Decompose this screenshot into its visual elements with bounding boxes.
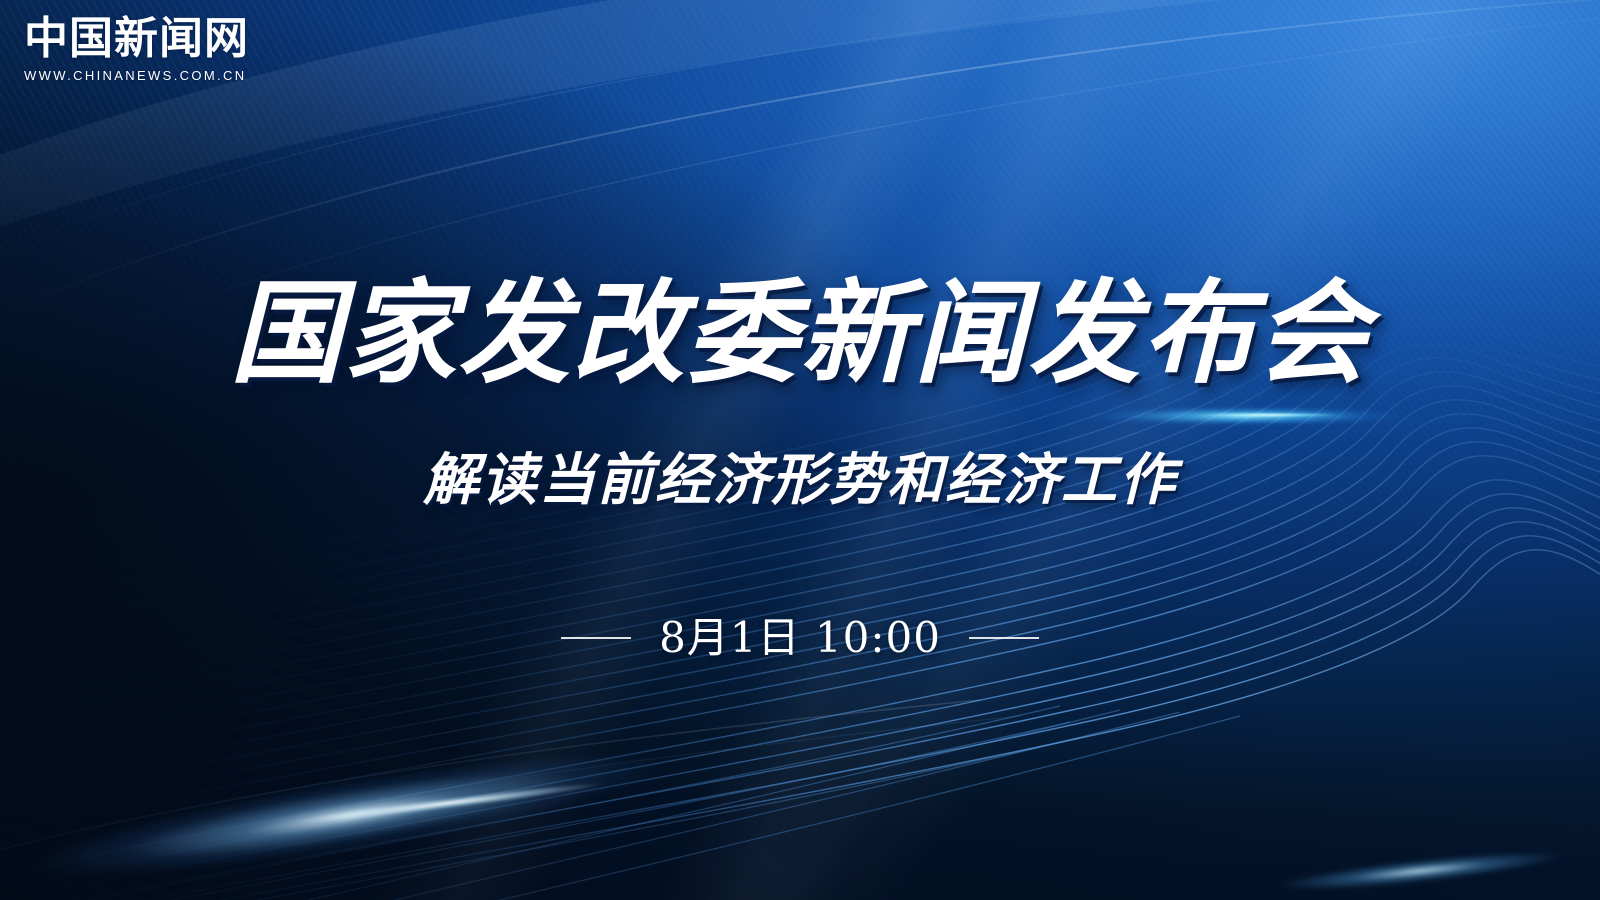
page-title: 国家发改委新闻发布会: [0, 272, 1600, 396]
light-streak-bottom-left: [0, 706, 762, 900]
poster-canvas: 中国新闻网 WWW.CHINANEWS.COM.CN 国家发改委新闻发布会 解读…: [0, 0, 1600, 900]
background-gradient: [0, 0, 1600, 900]
light-streak-under-title-core: [1180, 412, 1360, 418]
event-datetime: 8月1日 10:00: [659, 612, 941, 664]
background-wave-lines: [0, 0, 1600, 900]
poster-content: 国家发改委新闻发布会 解读当前经济形势和经济工作 8月1日 10:00: [0, 0, 1600, 900]
background-light-beams: [0, 0, 1600, 900]
background-hatch-top-right: [0, 0, 1600, 900]
background-arcs: [0, 0, 1600, 900]
background-diagonal-streaks: [0, 0, 1600, 900]
rule-right: [969, 637, 1039, 639]
event-datetime-row: 8月1日 10:00: [0, 612, 1600, 664]
logo-brand-url: WWW.CHINANEWS.COM.CN: [24, 68, 249, 83]
light-streak-bottom-right: [1229, 836, 1600, 900]
background-hatch-top-left: [0, 0, 1600, 900]
background-vignette: [0, 0, 1600, 900]
rule-left: [561, 637, 631, 639]
page-subtitle: 解读当前经济形势和经济工作: [0, 448, 1600, 514]
logo-brand-name: 中国新闻网: [24, 14, 249, 64]
chinanews-logo[interactable]: 中国新闻网 WWW.CHINANEWS.COM.CN: [24, 14, 249, 83]
